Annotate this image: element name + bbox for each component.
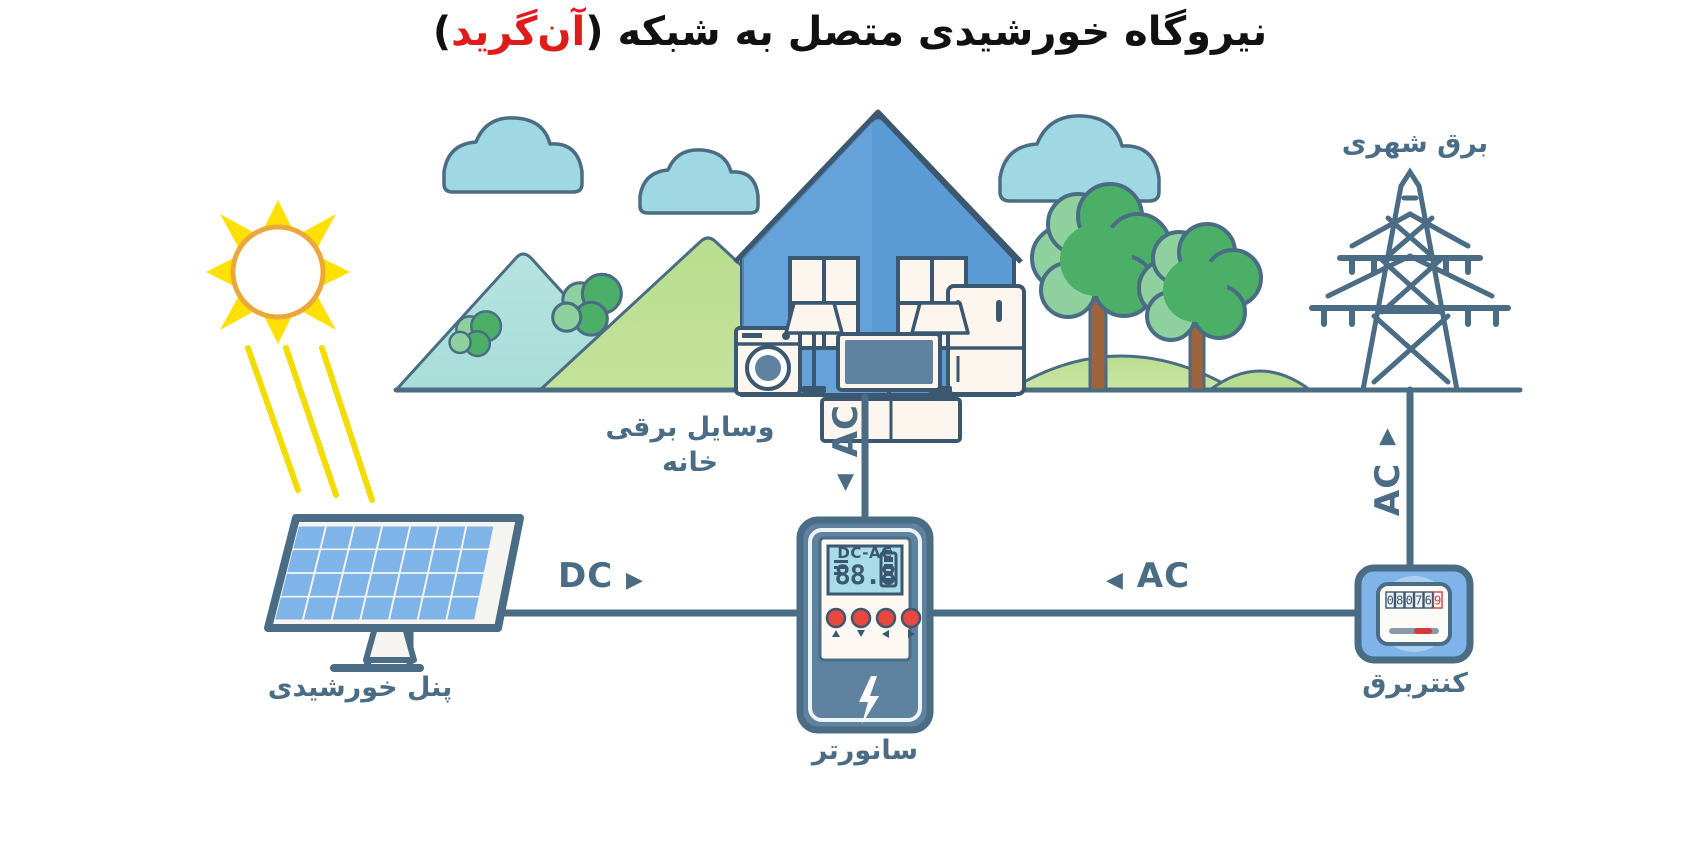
solar-cell (275, 597, 307, 619)
flow-dc-text: DC (558, 556, 613, 596)
cloud-icon (1000, 116, 1159, 201)
solar-cell (434, 527, 465, 549)
solar-cell (372, 550, 403, 572)
label-inverter: سانورتر (775, 735, 955, 766)
washing-machine-icon (736, 328, 800, 394)
house-icon (735, 112, 1024, 441)
solar-cell (395, 574, 426, 596)
solar-cell (378, 527, 409, 549)
flow-label-ac-meter: ◀ AC (1106, 556, 1190, 596)
label-home-appliances-line2: خانه (590, 445, 790, 480)
cloud-icon (640, 150, 758, 213)
meter-digit: 8 (1396, 594, 1403, 608)
flow-ac-grid-arrow: ▼ (1375, 424, 1400, 450)
solar-cell (287, 550, 319, 572)
transmission-tower-icon (1312, 172, 1508, 390)
solar-cell (333, 597, 365, 619)
meter-digit: 0 (1387, 594, 1394, 608)
solar-cell (367, 574, 399, 596)
flow-label-ac-grid: AC ▼ (1368, 424, 1408, 516)
solar-cell (401, 550, 432, 572)
solar-panel-icon (268, 518, 520, 668)
meter-digit: 9 (1434, 594, 1441, 608)
label-meter: کنتربرق (1320, 668, 1510, 699)
solar-cell (447, 597, 478, 619)
cloud-icon (444, 118, 582, 192)
solar-cell (281, 574, 313, 596)
sun-icon (206, 200, 350, 344)
flow-ac-meter-arrow: ◀ (1106, 568, 1124, 593)
solar-cell (361, 597, 393, 619)
flow-ac-grid-text: AC (1368, 463, 1408, 516)
solar-cell (304, 597, 336, 619)
flow-dc-arrow: ▶ (626, 568, 644, 593)
flow-ac-house-text: AC (826, 404, 866, 457)
label-utility-power: برق شهری (1320, 128, 1510, 159)
label-home-appliances: وسایل برقی خانه (590, 410, 790, 480)
solar-cell (458, 550, 489, 572)
solar-cell (463, 527, 494, 549)
label-home-appliances-line1: وسایل برقی (590, 410, 790, 445)
solar-cell (390, 597, 422, 619)
solar-cell (406, 527, 437, 549)
flow-label-ac-house: ▲ AC (826, 404, 866, 496)
inverter-button-right[interactable] (902, 609, 920, 627)
solar-cell (321, 527, 353, 549)
flow-ac-meter-text: AC (1137, 556, 1190, 596)
flow-ac-house-arrow: ▲ (833, 470, 858, 496)
solar-cell (429, 550, 460, 572)
sun-rays (248, 348, 372, 500)
solar-cell (344, 550, 376, 572)
solar-cell (424, 574, 455, 596)
solar-cell (350, 527, 381, 549)
solar-cell (316, 550, 348, 572)
hill-right (1010, 356, 1310, 390)
label-solar-panel: پنل خورشیدی (240, 672, 480, 703)
solar-cell (419, 597, 450, 619)
inverter-button-left[interactable] (877, 609, 895, 627)
diagram-canvas: نیروگاه خورشیدی متصل به شبکه (آن‌گرید) (0, 0, 1700, 850)
meter-digit: 0 (1406, 594, 1413, 608)
meter-digit-row: 080769 (1386, 592, 1442, 608)
solar-cell (452, 574, 483, 596)
inverter-display-value: 88.8 (828, 560, 902, 591)
meter-digit: 6 (1425, 594, 1432, 608)
inverter-button-up[interactable] (827, 609, 845, 627)
inverter-button-down[interactable] (852, 609, 870, 627)
electric-meter-icon: 080769 (1358, 568, 1470, 660)
solar-cell (338, 574, 370, 596)
meter-digit: 7 (1415, 594, 1422, 608)
flow-label-dc: DC ▶ (558, 556, 644, 596)
television-icon (838, 334, 940, 400)
solar-cell (293, 527, 325, 549)
solar-cell (310, 574, 342, 596)
